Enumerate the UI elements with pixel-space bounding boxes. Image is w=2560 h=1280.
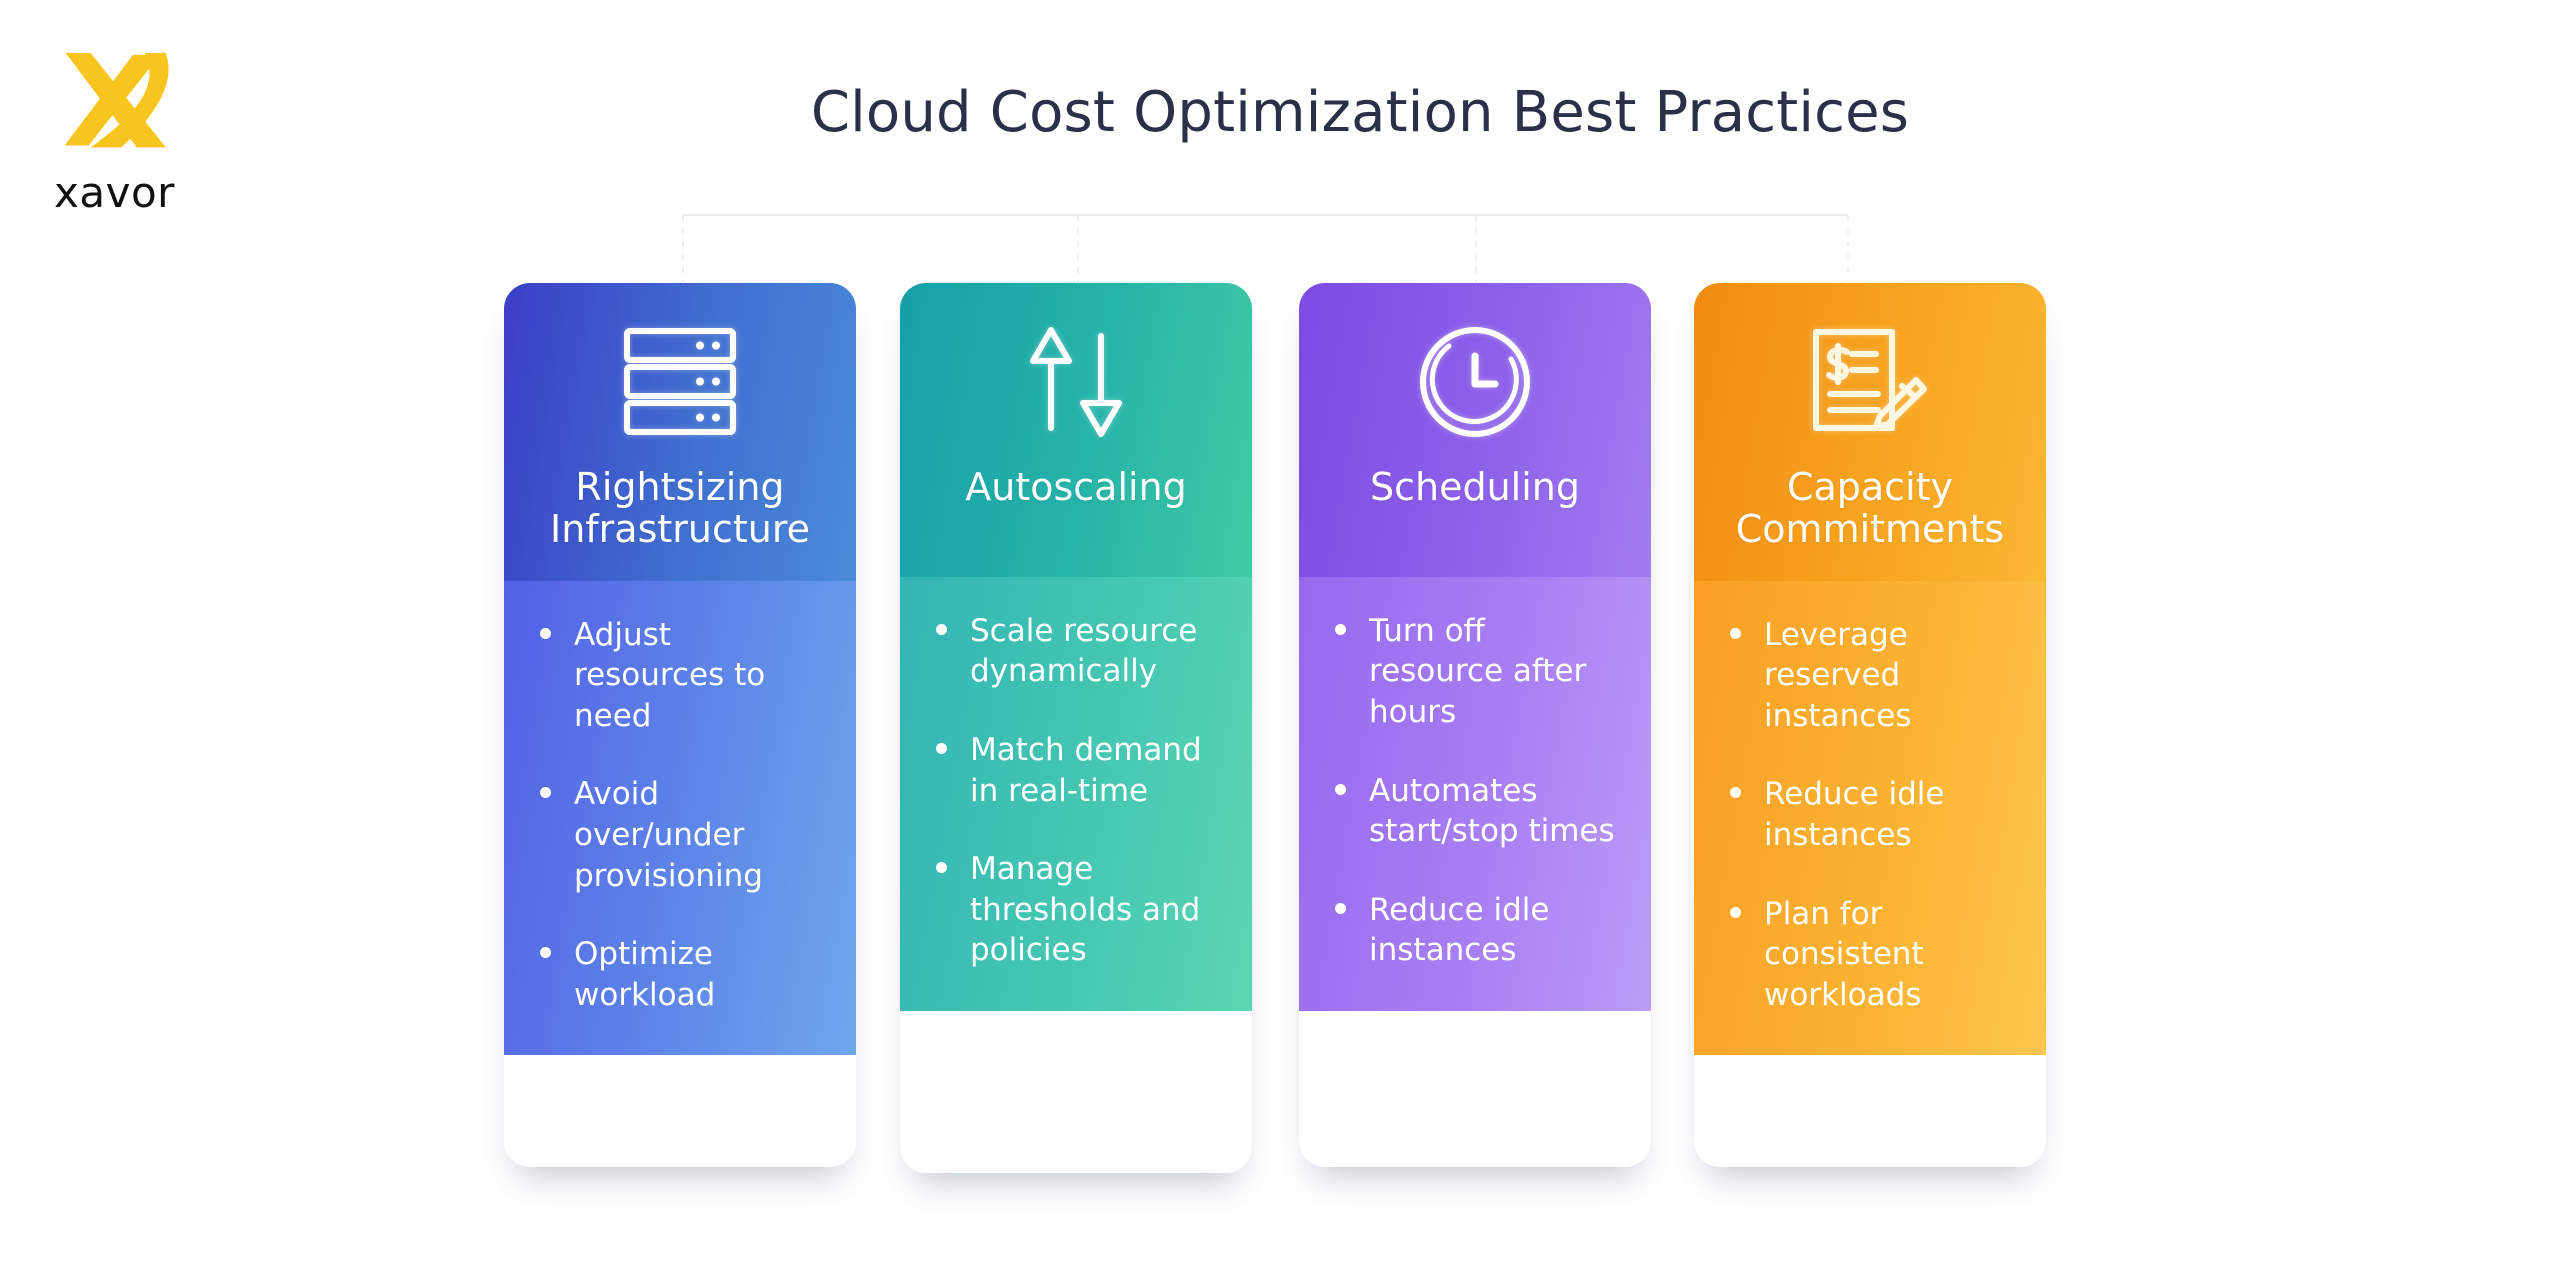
- list-item: Scale resource dynamically: [926, 611, 1226, 692]
- list-item: Manage thresholds and policies: [926, 849, 1226, 971]
- list-item: Reduce idle instances: [1325, 890, 1625, 971]
- bullet-dot-icon: [936, 624, 947, 635]
- bullet-dot-icon: [540, 628, 551, 639]
- card-title: Rightsizing Infrastructure: [504, 467, 856, 581]
- list-item: Leverage reserved instances: [1720, 615, 2020, 737]
- bullet-text: Match demand in real-time: [970, 732, 1202, 809]
- card-scheduling[interactable]: Scheduling Turn off resource after hours…: [1299, 283, 1651, 1167]
- card-body: Scale resource dynamically Match demand …: [900, 577, 1252, 1011]
- bullet-dot-icon: [936, 743, 947, 754]
- up-down-arrows-icon: [900, 323, 1252, 441]
- card-body: Turn off resource after hours Automates …: [1299, 577, 1651, 1011]
- list-item: Automates start/stop times: [1325, 771, 1625, 852]
- list-item: Match demand in real-time: [926, 730, 1226, 811]
- bullet-text: Reduce idle instances: [1764, 776, 1945, 853]
- bullet-text: Adjust resources to need: [574, 617, 765, 734]
- bullet-dot-icon: [1335, 624, 1346, 635]
- bullet-dot-icon: [936, 862, 947, 873]
- bullet-text: Leverage reserved instances: [1764, 617, 1911, 734]
- bullet-text: Automates start/stop times: [1369, 773, 1615, 850]
- bullet-dot-icon: [1335, 784, 1346, 795]
- bullet-text: Reduce idle instances: [1369, 892, 1550, 969]
- card-rightsizing-infrastructure[interactable]: Rightsizing Infrastructure Adjust resour…: [504, 283, 856, 1167]
- card-capacity-commitments[interactable]: Capacity Commitments Leverage reserved i…: [1694, 283, 2046, 1167]
- server-rack-icon: [504, 323, 856, 441]
- bullet-list: Leverage reserved instances Reduce idle …: [1720, 615, 2020, 1016]
- list-item: Reduce idle instances: [1720, 774, 2020, 855]
- bullet-text: Scale resource dynamically: [970, 613, 1197, 690]
- card-body: Leverage reserved instances Reduce idle …: [1694, 581, 2046, 1056]
- list-item: Optimize workload: [530, 934, 830, 1015]
- bullet-dot-icon: [1730, 787, 1741, 798]
- list-item: Adjust resources to need: [530, 615, 830, 737]
- card-header: Capacity Commitments: [1694, 283, 2046, 581]
- bullet-dot-icon: [540, 947, 551, 958]
- bullet-list: Turn off resource after hours Automates …: [1325, 611, 1625, 971]
- bullet-text: Plan for consistent workloads: [1764, 896, 1924, 1013]
- bullet-dot-icon: [1730, 907, 1741, 918]
- bullet-dot-icon: [540, 787, 551, 798]
- bullet-text: Turn off resource after hours: [1369, 613, 1586, 730]
- card-header: Rightsizing Infrastructure: [504, 283, 856, 581]
- card-title: Capacity Commitments: [1694, 467, 2046, 581]
- card-grid: Rightsizing Infrastructure Adjust resour…: [0, 0, 2560, 1280]
- card-autoscaling[interactable]: Autoscaling Scale resource dynamically M…: [900, 283, 1252, 1173]
- card-header: Autoscaling: [900, 283, 1252, 577]
- card-header: Scheduling: [1299, 283, 1651, 577]
- bullet-text: Avoid over/under provisioning: [574, 776, 763, 893]
- card-title: Autoscaling: [900, 467, 1252, 577]
- list-item: Plan for consistent workloads: [1720, 894, 2020, 1016]
- card-title: Scheduling: [1299, 467, 1651, 577]
- bullet-text: Optimize workload: [574, 936, 715, 1013]
- bullet-list: Adjust resources to need Avoid over/unde…: [530, 615, 830, 1016]
- list-item: Turn off resource after hours: [1325, 611, 1625, 733]
- card-body: Adjust resources to need Avoid over/unde…: [504, 581, 856, 1056]
- clock-icon: [1299, 323, 1651, 441]
- contract-dollar-pencil-icon: [1694, 323, 2046, 441]
- bullet-text: Manage thresholds and policies: [970, 851, 1200, 968]
- bullet-list: Scale resource dynamically Match demand …: [926, 611, 1226, 971]
- infographic-canvas: xavor Cloud Cost Optimization Best Pract…: [0, 0, 2560, 1280]
- list-item: Avoid over/under provisioning: [530, 774, 830, 896]
- bullet-dot-icon: [1335, 903, 1346, 914]
- bullet-dot-icon: [1730, 628, 1741, 639]
